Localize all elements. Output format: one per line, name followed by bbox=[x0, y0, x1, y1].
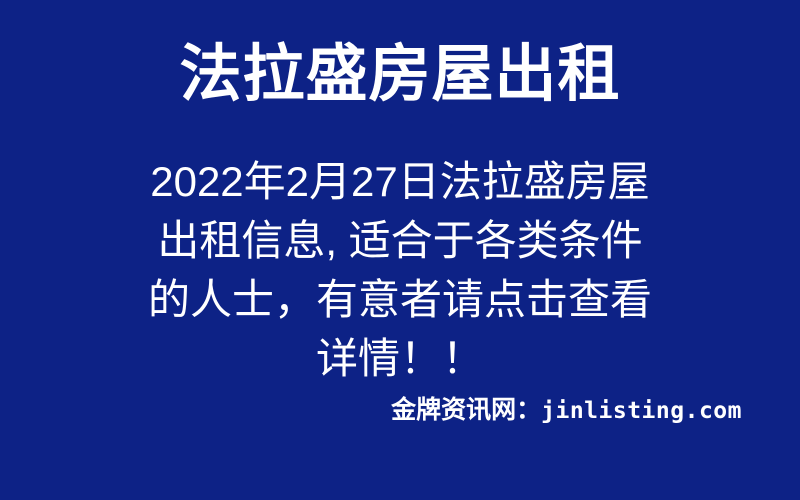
footer-site-url: jinlisting.com bbox=[541, 398, 742, 424]
body-line: 的人士，有意者请点击查看 bbox=[100, 270, 700, 329]
footer-site-label: 金牌资讯网： bbox=[391, 396, 541, 424]
body-line: 2022年2月27日法拉盛房屋 bbox=[100, 152, 700, 211]
poster-canvas: 法拉盛房屋出租 2022年2月27日法拉盛房屋 出租信息, 适合于各类条件 的人… bbox=[0, 0, 800, 500]
page-title: 法拉盛房屋出租 bbox=[0, 38, 800, 112]
body-line: 出租信息, 适合于各类条件 bbox=[100, 211, 700, 270]
poster-body-text: 2022年2月27日法拉盛房屋 出租信息, 适合于各类条件 的人士，有意者请点击… bbox=[100, 152, 700, 388]
body-line: 详情！！ bbox=[100, 329, 700, 388]
footer-attribution: 金牌资讯网：jinlisting.com bbox=[0, 395, 800, 426]
